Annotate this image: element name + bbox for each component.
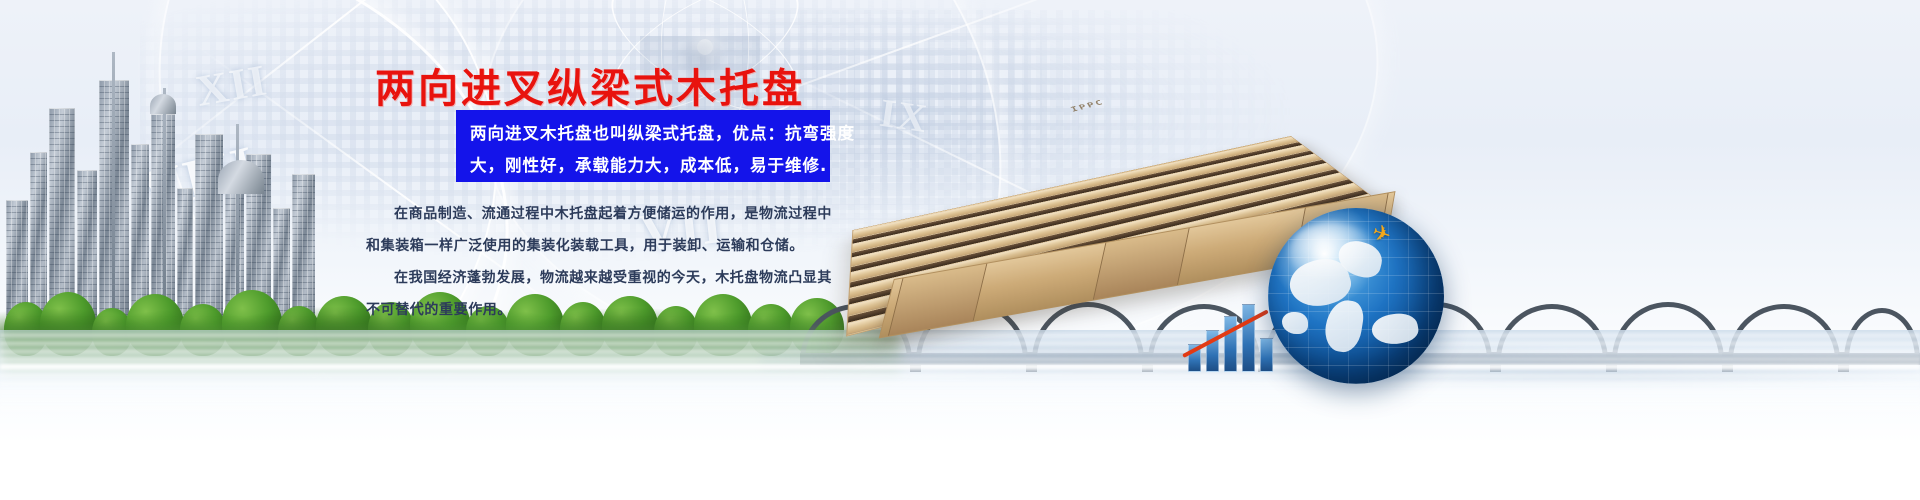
promotional-banner: VIII XII VII IX xyxy=(0,0,1920,500)
horizon-divider xyxy=(0,364,1920,369)
description-paragraph-2: 在我国经济蓬勃发展，物流越来越受重视的今天，木托盘物流凸显其不可替代的重要作用。 xyxy=(366,262,836,326)
description-paragraph-1: 在商品制造、流通过程中木托盘起着方便储运的作用，是物流过程中和集装箱一样广泛使用… xyxy=(366,198,836,262)
description-block: 在商品制造、流通过程中木托盘起着方便储运的作用，是物流过程中和集装箱一样广泛使用… xyxy=(366,198,836,326)
highlight-line-1: 两向进叉木托盘也叫纵梁式托盘，优点：抗弯强度 xyxy=(470,120,855,144)
highlight-line-2: 大，刚性好，承载能力大，成本低，易于维修. xyxy=(470,152,827,176)
water-bands xyxy=(0,332,1920,412)
pallet-stamp-label: IPPC xyxy=(1069,98,1106,113)
banner-title: 两向进叉纵梁式木托盘 xyxy=(375,56,805,114)
highlight-callout-box: 两向进叉木托盘也叫纵梁式托盘，优点：抗弯强度 大，刚性好，承载能力大，成本低，易… xyxy=(456,110,830,182)
globe-icon xyxy=(1268,208,1444,384)
